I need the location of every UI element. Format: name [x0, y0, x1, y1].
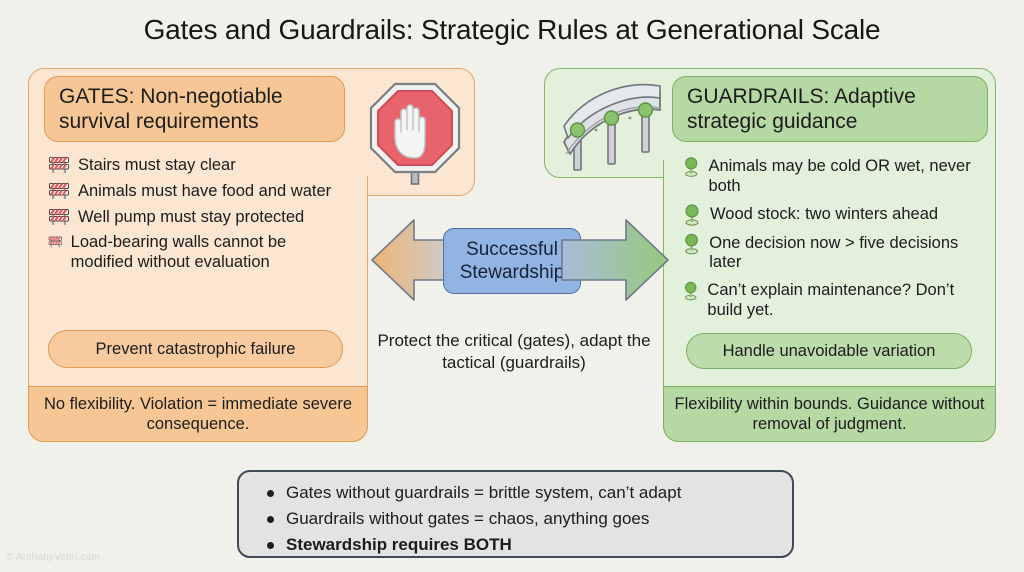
list-item-label: Well pump must stay protected [78, 207, 304, 228]
list-item-label: Load-bearing walls cannot be modified wi… [71, 232, 350, 273]
map-pin-icon [682, 204, 702, 226]
list-item: Animals may be cold OR wet, never both [682, 156, 984, 197]
summary-item-label: Gates without guardrails = brittle syste… [286, 482, 681, 505]
list-item-label: Animals must have food and water [78, 181, 331, 202]
list-item-label: Stairs must stay clear [78, 155, 236, 176]
road-barricade-icon [48, 155, 70, 175]
summary-item-label: Guardrails without gates = chaos, anythi… [286, 508, 649, 531]
map-pin-icon [682, 156, 700, 178]
gates-header-label: GATES: Non-negotiable survival requireme… [59, 84, 330, 134]
gates-footer-band: No flexibility. Violation = immediate se… [28, 386, 368, 442]
guardrails-list: Animals may be cold OR wet, never both W… [682, 156, 984, 328]
list-item: Load-bearing walls cannot be modified wi… [48, 232, 350, 273]
map-pin-icon [682, 280, 699, 302]
list-item-label: Wood stock: two winters ahead [710, 204, 938, 225]
gates-header: GATES: Non-negotiable survival requireme… [44, 76, 345, 142]
list-item: Wood stock: two winters ahead [682, 204, 984, 226]
summary-box: Gates without guardrails = brittle syste… [237, 470, 794, 558]
summary-item: Gates without guardrails = brittle syste… [267, 482, 792, 505]
list-item-label: Animals may be cold OR wet, never both [708, 156, 984, 197]
center-caption: Protect the critical (gates), adapt the … [372, 330, 656, 374]
page-title: Gates and Guardrails: Strategic Rules at… [0, 14, 1024, 46]
list-item: Well pump must stay protected [48, 207, 350, 228]
guardrails-outcome-pill: Handle unavoidable variation [686, 333, 972, 369]
stop-sign-hand-icon [365, 78, 465, 186]
infographic-canvas: Gates and Guardrails: Strategic Rules at… [0, 0, 1024, 572]
list-item: Can’t explain maintenance? Don’t build y… [682, 280, 984, 321]
list-item-label: Can’t explain maintenance? Don’t build y… [707, 280, 984, 321]
watermark: © AnthonyVeltri.com [6, 552, 100, 563]
guardrails-header: GUARDRAILS: Adaptive strategic guidance [672, 76, 988, 142]
list-item: Animals must have food and water [48, 181, 350, 202]
summary-item: Guardrails without gates = chaos, anythi… [267, 508, 792, 531]
guardrail-icon [556, 80, 674, 178]
right-arrow-icon [560, 214, 670, 306]
bullet-dot-icon [267, 490, 274, 497]
guardrails-footer-label: Flexibility within bounds. Guidance with… [664, 394, 995, 434]
bullet-dot-icon [267, 542, 274, 549]
summary-item: Stewardship requires BOTH [267, 534, 792, 557]
map-pin-icon [682, 233, 701, 255]
guardrails-outcome-label: Handle unavoidable variation [723, 342, 936, 361]
guardrails-header-label: GUARDRAILS: Adaptive strategic guidance [687, 84, 973, 134]
list-item: One decision now > five decisions later [682, 233, 984, 274]
gates-list: Stairs must stay clear Animals must have… [48, 155, 350, 278]
gates-outcome-pill: Prevent catastrophic failure [48, 330, 343, 368]
gates-outcome-label: Prevent catastrophic failure [96, 340, 296, 359]
gates-footer-label: No flexibility. Violation = immediate se… [29, 394, 367, 434]
road-barricade-icon [48, 181, 70, 201]
guardrails-footer-band: Flexibility within bounds. Guidance with… [663, 386, 996, 442]
list-item-label: One decision now > five decisions later [709, 233, 984, 274]
road-barricade-icon [48, 232, 63, 252]
road-barricade-icon [48, 207, 70, 227]
list-item: Stairs must stay clear [48, 155, 350, 176]
bullet-dot-icon [267, 516, 274, 523]
summary-item-label: Stewardship requires BOTH [286, 534, 512, 557]
